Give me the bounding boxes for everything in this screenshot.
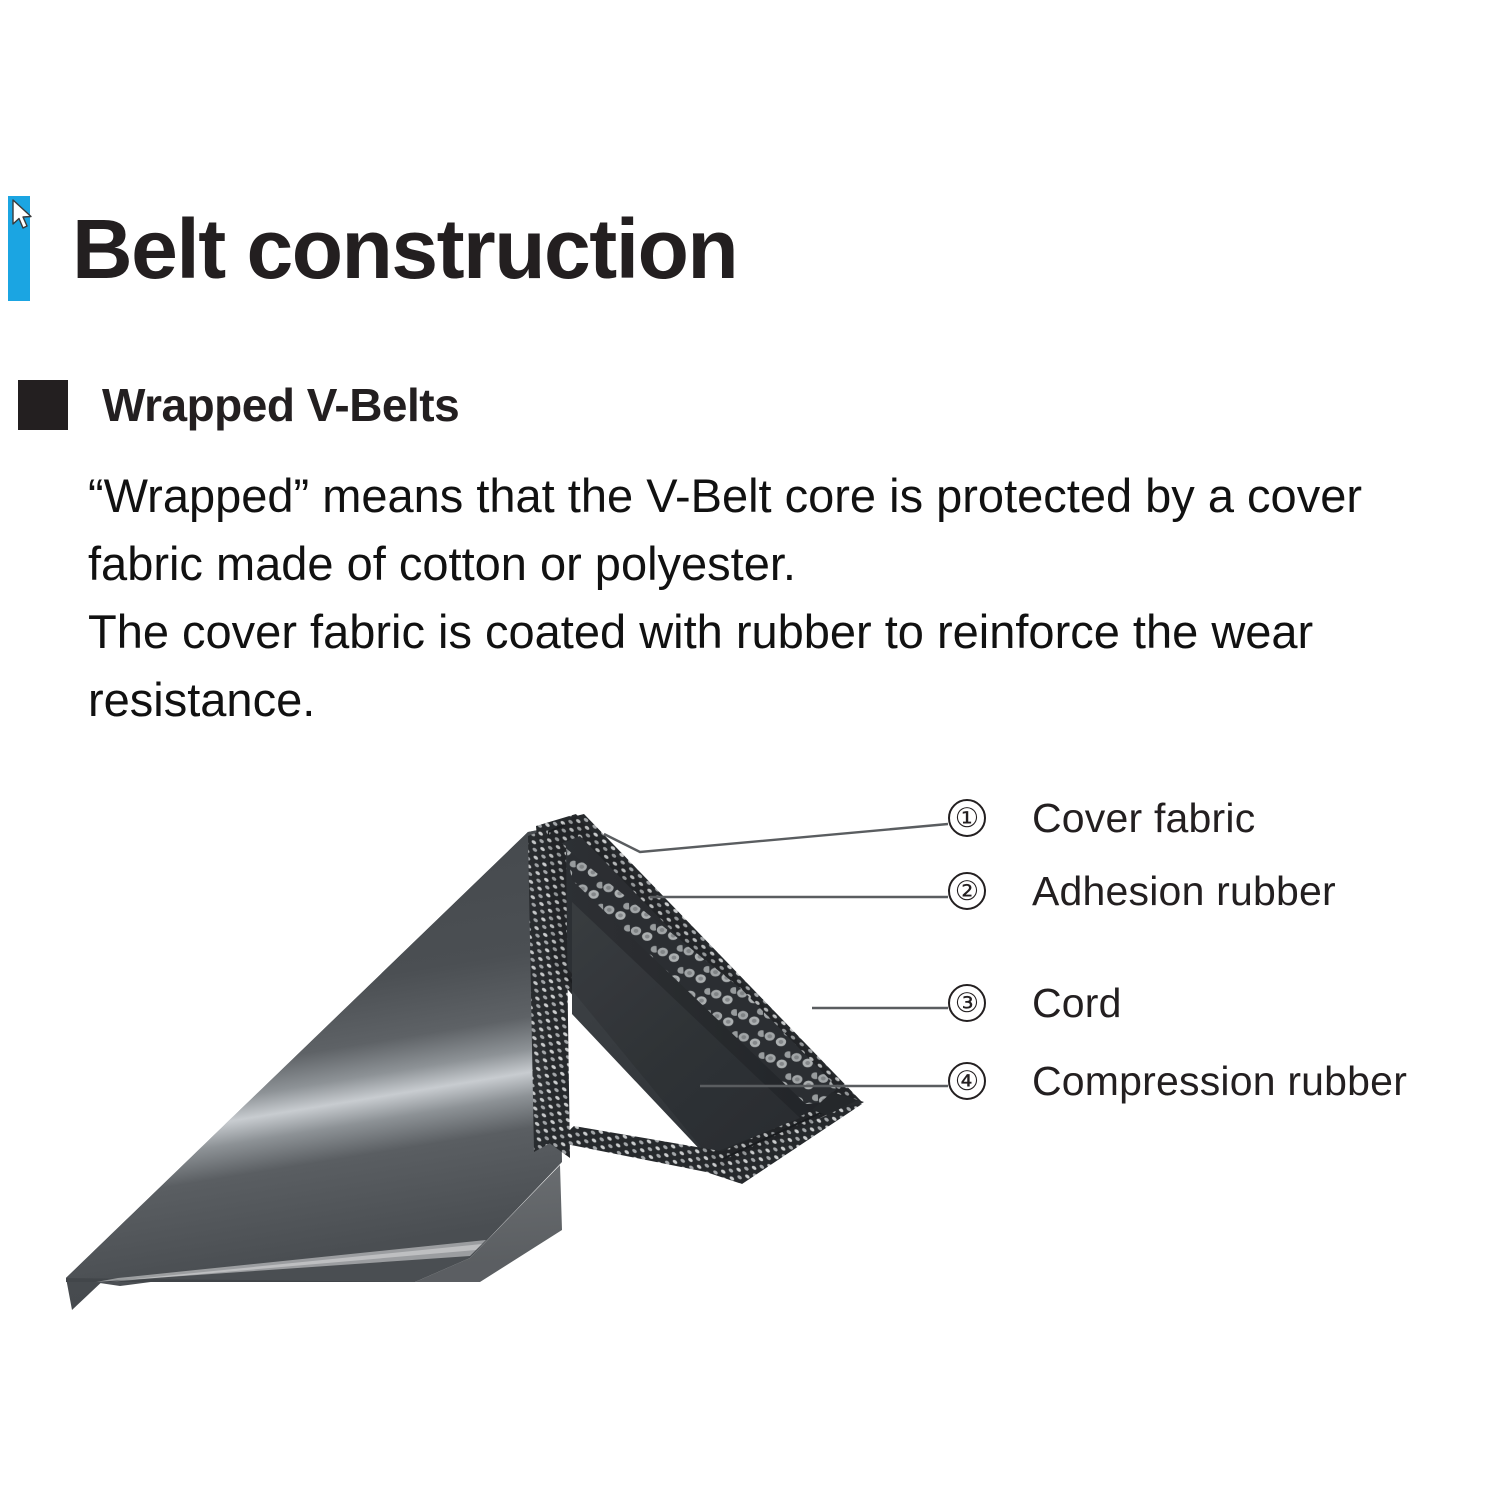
page-title-row: Belt construction <box>0 196 737 301</box>
section-heading: Wrapped V-Belts <box>102 378 459 432</box>
page-title: Belt construction <box>72 207 737 291</box>
callout-item-cord: ③ Cord <box>948 981 1122 1025</box>
callout-label-1: Cover fabric <box>1032 795 1255 842</box>
callout-item-adhesion-rubber: ② Adhesion rubber <box>948 869 1336 913</box>
callout-number-4: ④ <box>948 1062 986 1100</box>
callout-number-3: ③ <box>948 984 986 1022</box>
callout-label-4: Compression rubber <box>1032 1058 1407 1105</box>
callout-number-1: ① <box>948 799 986 837</box>
callout-item-compression-rubber: ④ Compression rubber <box>948 1059 1407 1103</box>
callout-item-cover-fabric: ① Cover fabric <box>948 796 1255 840</box>
section-heading-row: Wrapped V-Belts <box>18 378 459 432</box>
callout-label-2: Adhesion rubber <box>1032 868 1336 915</box>
callout-label-3: Cord <box>1032 980 1122 1027</box>
body-paragraph-1: “Wrapped” means that the V-Belt core is … <box>88 462 1458 598</box>
callout-number-2: ② <box>948 872 986 910</box>
accent-bar <box>8 196 30 301</box>
belt-diagram <box>0 770 1500 1330</box>
black-square-bullet-icon <box>18 380 68 430</box>
body-copy: “Wrapped” means that the V-Belt core is … <box>88 462 1458 734</box>
body-paragraph-2: The cover fabric is coated with rubber t… <box>88 598 1458 734</box>
